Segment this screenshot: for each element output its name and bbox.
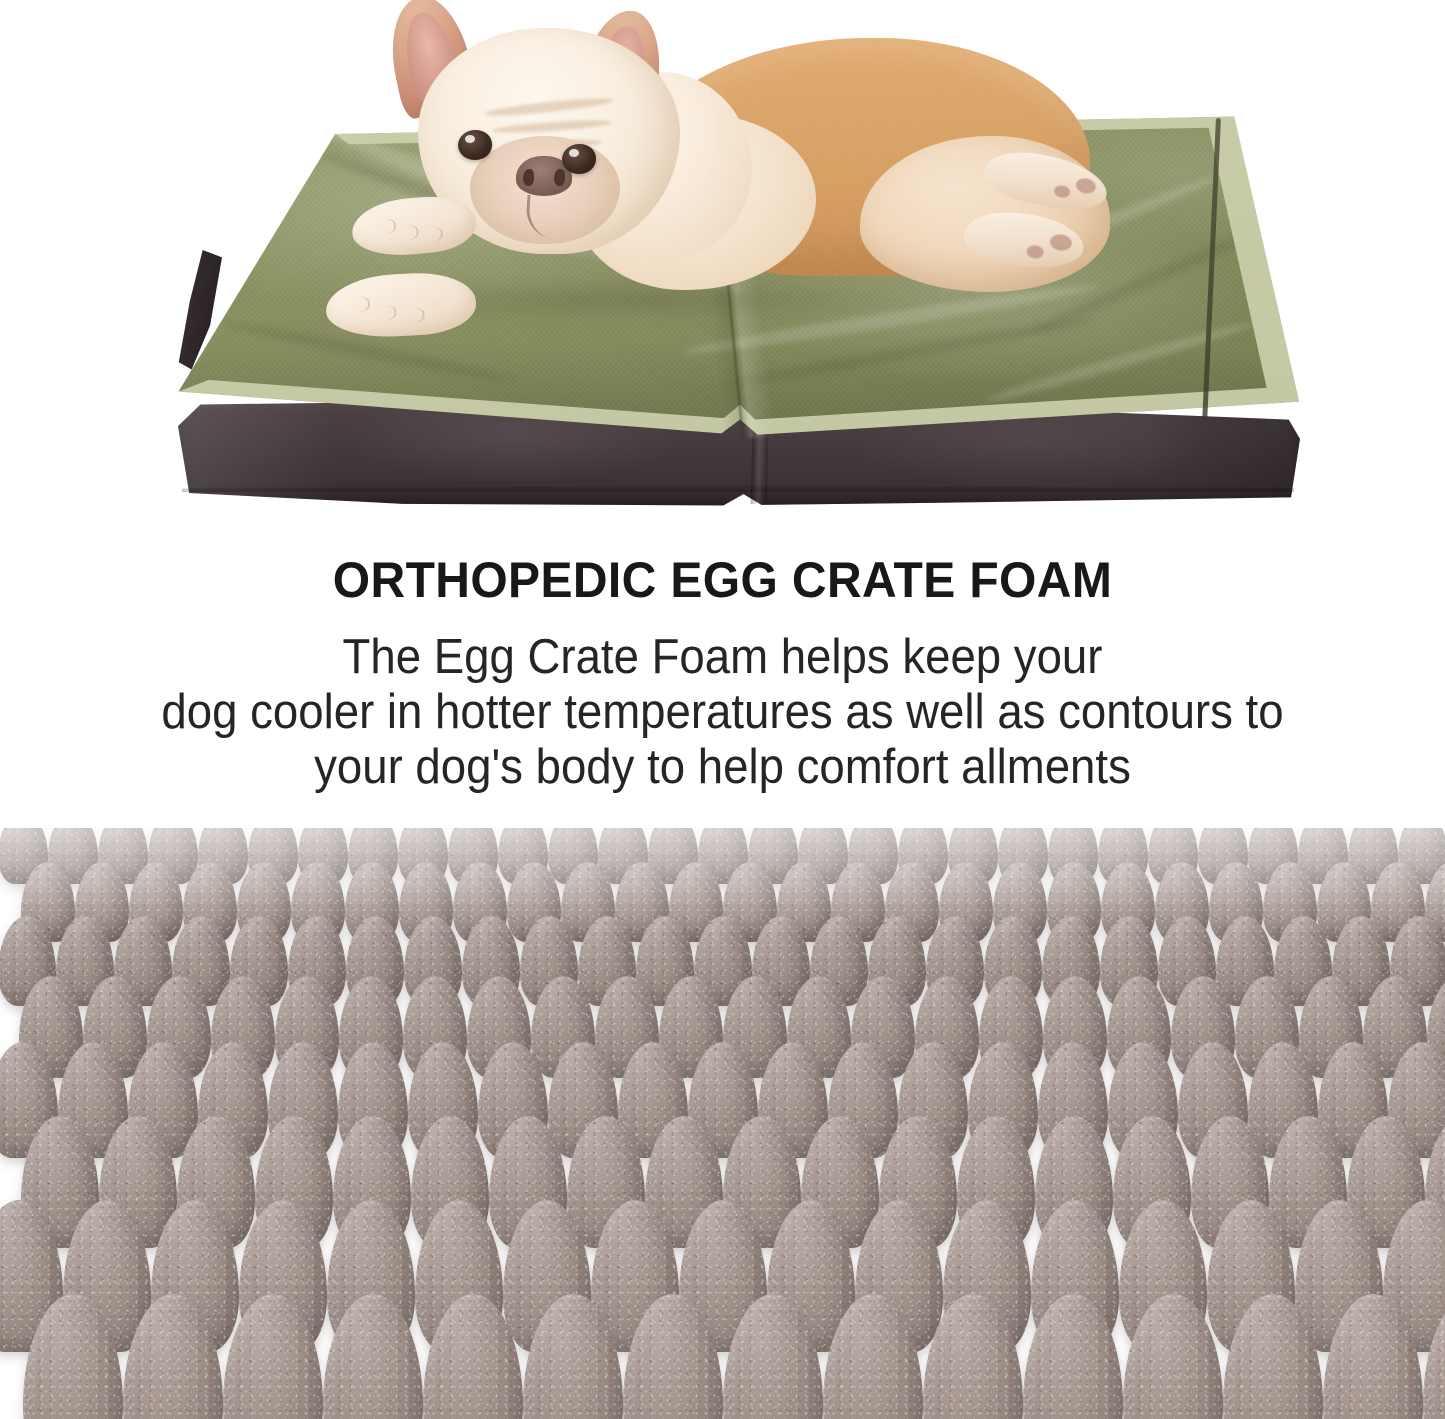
foam-bump [1423,1294,1445,1419]
foam-row [0,1294,1445,1419]
dog-eye-left [458,130,492,160]
foam-bump [623,1294,723,1419]
foam-bump [423,1294,523,1419]
foam-bump [1023,1294,1123,1419]
marketing-copy-block: ORTHOPEDIC EGG CRATE FOAM The Egg Crate … [0,528,1445,828]
foam-bump [923,1294,1023,1419]
dog-front-paw-lower [324,270,477,340]
foam-bump [1323,1294,1423,1419]
page-title: ORTHOPEDIC EGG CRATE FOAM [29,528,1416,606]
foam-bump [1223,1294,1323,1419]
body-copy: The Egg Crate Foam helps keep your dog c… [51,606,1395,795]
foam-bump [123,1294,223,1419]
dog-eye-right [562,144,596,174]
foam-bump [523,1294,623,1419]
foam-bump [823,1294,923,1419]
product-photo-hero [0,0,1445,528]
foam-bump [1123,1294,1223,1419]
egg-crate-foam-photo [0,828,1445,1419]
foam-bump [223,1294,323,1419]
foam-bump [723,1294,823,1419]
foam-bump [23,1294,123,1419]
french-bulldog [330,0,1090,336]
foam-bump [323,1294,423,1419]
dog-front-paw-upper [350,193,478,260]
